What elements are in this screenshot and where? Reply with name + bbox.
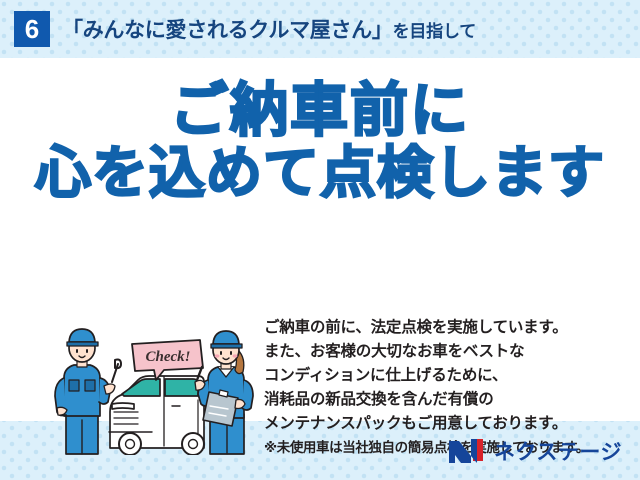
content-panel: ご納車前に 心を込めて点検します ご納車の前に、法定点検を実施しています。 また…	[0, 58, 640, 421]
headline-line-1: ご納車前に	[0, 80, 640, 143]
copy-line: 消耗品の新品交換を含んだ有償の	[264, 388, 634, 412]
section-number-badge: 6	[14, 11, 50, 47]
header-title-suffix: を目指して	[393, 17, 477, 42]
check-bubble-label: Check!	[146, 349, 191, 365]
copy-line: ご納車の前に、法定点検を実施しています。	[264, 316, 634, 340]
inspection-van	[109, 376, 204, 455]
header-title-main: 「みんなに愛されるクルマ屋さん」	[62, 14, 393, 44]
copy-line: メンテナンスパックもご用意しております。	[264, 412, 634, 436]
headline-line-2: 心を込めて点検します	[0, 143, 640, 203]
illustration-svg: Check!	[52, 320, 267, 455]
nexstage-logo: ネクステージ	[447, 436, 622, 466]
banner-header: 6 「みんなに愛されるクルマ屋さん」 を目指して	[0, 0, 640, 58]
nexstage-n-mark-icon	[447, 437, 487, 465]
header-title: 「みんなに愛されるクルマ屋さん」 を目指して	[62, 14, 476, 44]
nexstage-logo-text: ネクステージ	[494, 436, 622, 466]
copy-line: また、お客様の大切なお車をベストな	[264, 340, 634, 364]
copy-line: コンディションに仕上げるために、	[264, 364, 634, 388]
headline-block: ご納車前に 心を込めて点検します	[0, 80, 640, 203]
promo-banner: 6 「みんなに愛されるクルマ屋さん」 を目指して ご納車前に 心を込めて点検しま…	[0, 0, 640, 480]
mechanics-illustration: Check!	[52, 320, 267, 455]
